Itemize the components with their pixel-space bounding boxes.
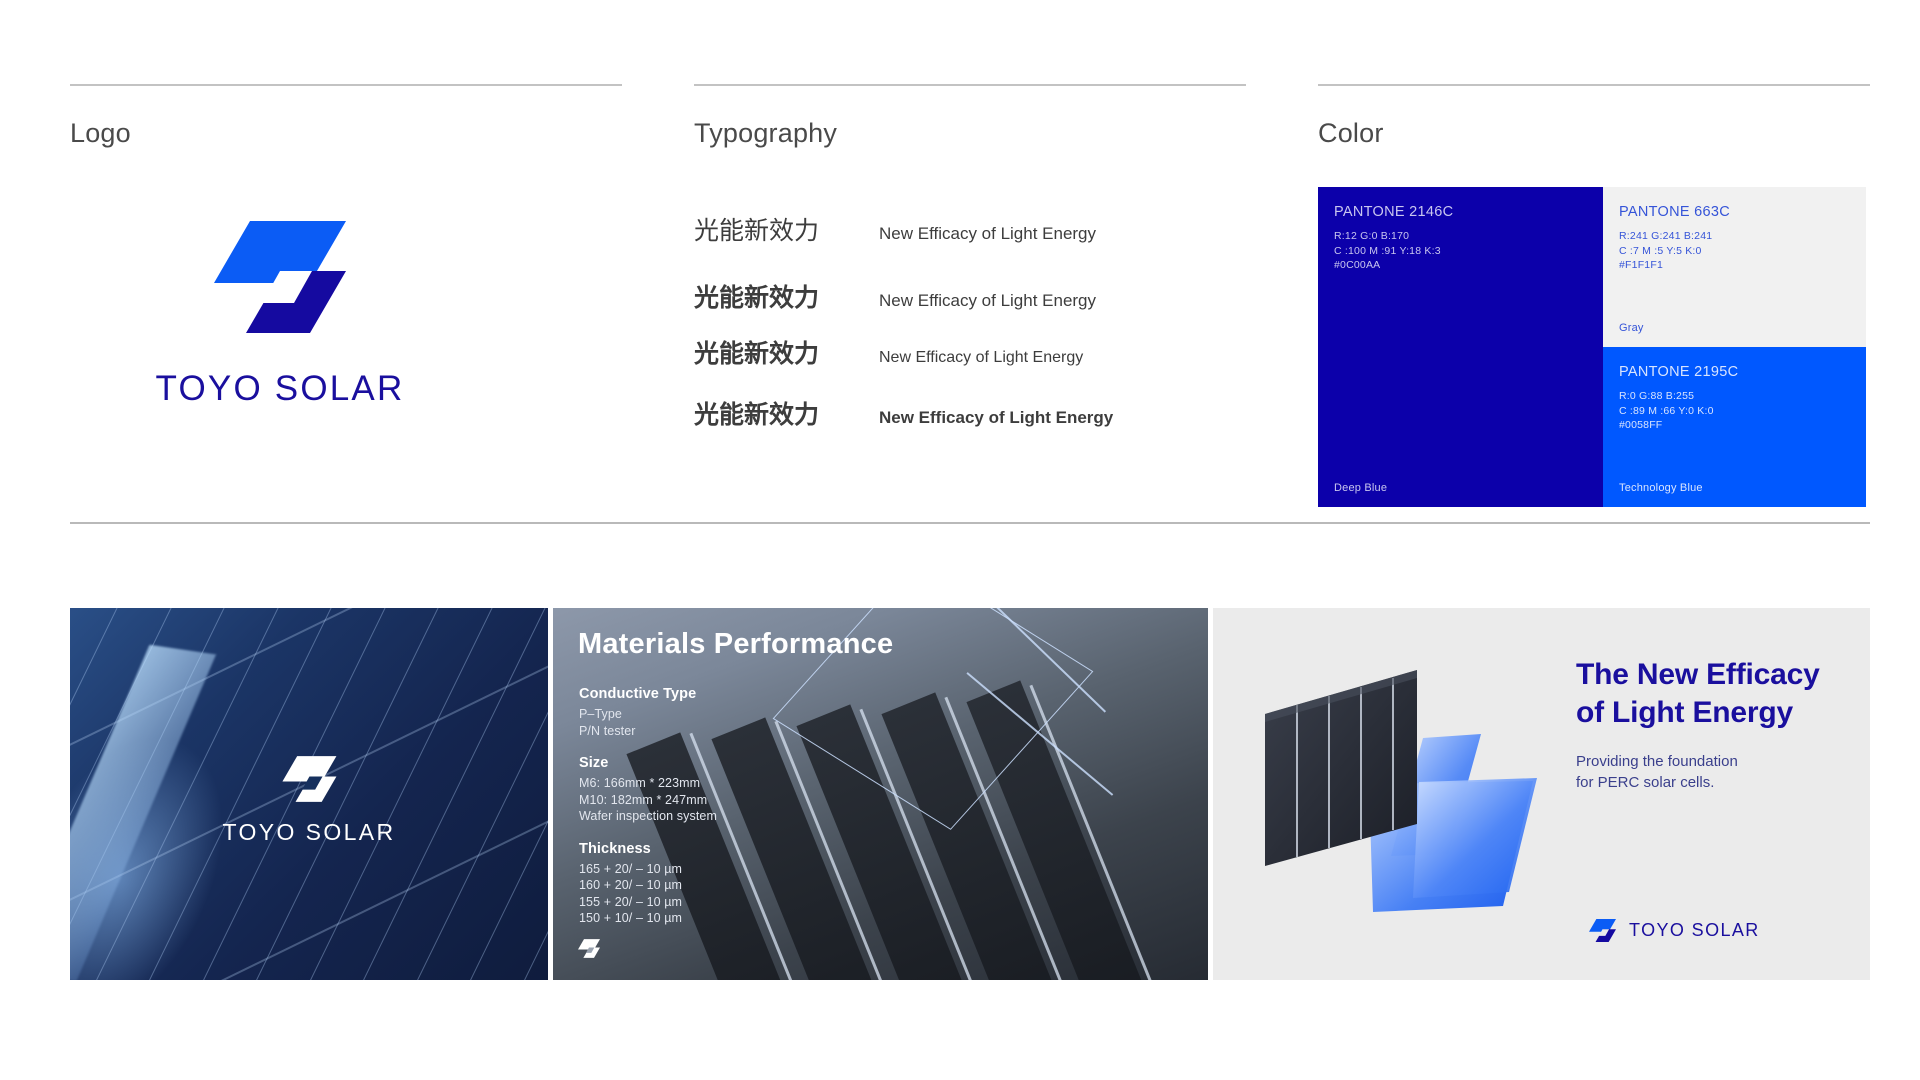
spec-item: 165 + 20/ – 10 µm	[579, 861, 717, 878]
typography-sample-cn: 光能新效力	[694, 334, 879, 370]
logo-column-rule	[70, 84, 622, 86]
color-column: Color PANTONE 2146C R:12 G:0 B:170 C :10…	[1318, 84, 1870, 507]
spec-row: Logo TOYO SOLAR Typography 光能新效力	[0, 0, 1920, 520]
swatch-pantone-name: PANTONE 663C	[1619, 204, 1850, 220]
toyo-solar-mark-white-small-icon	[578, 939, 600, 958]
spec-item: 155 + 20/ – 10 µm	[579, 894, 717, 911]
panel-product-key-visual: The New Efficacy of Light Energy Providi…	[1213, 608, 1870, 980]
logo-section-title: Logo	[70, 118, 622, 149]
spec-group-conductive-type: Conductive Type P–Type P/N tester	[579, 686, 717, 739]
toyo-solar-mark-blue-icon	[1589, 919, 1616, 942]
section-divider	[70, 522, 1870, 524]
color-swatch-technology-blue: PANTONE 2195C R:0 G:88 B:255 C :89 M :66…	[1603, 347, 1866, 507]
spec-item: 150 + 10/ – 10 µm	[579, 910, 717, 927]
right-panel-wordmark: TOYO SOLAR	[1629, 920, 1760, 941]
swatch-label: Deep Blue	[1334, 482, 1387, 494]
swatch-rgb: R:0 G:88 B:255	[1619, 389, 1850, 404]
application-panels: TOYO SOLAR Materials Performance	[70, 608, 1870, 980]
panel-materials-performance: Materials Performance Conductive Type P–…	[553, 608, 1208, 980]
typography-section-title: Typography	[694, 118, 1246, 149]
right-panel-title: The New Efficacy of Light Energy	[1576, 656, 1846, 732]
swatch-cmyk: C :7 M :5 Y:5 K:0	[1619, 244, 1850, 259]
typography-sample-en: New Efficacy of Light Energy	[879, 291, 1096, 311]
typography-sample-row: 光能新效力 New Efficacy of Light Energy	[694, 211, 1246, 247]
spec-group-size: Size M6: 166mm * 223mm M10: 182mm * 247m…	[579, 755, 717, 825]
color-swatch-grid: PANTONE 2146C R:12 G:0 B:170 C :100 M :9…	[1318, 187, 1866, 507]
swatch-hex: #0058FF	[1619, 418, 1850, 433]
typography-samples: 光能新效力 New Efficacy of Light Energy 光能新效力…	[694, 211, 1246, 431]
right-panel-logo-lockup: TOYO SOLAR	[1576, 919, 1760, 942]
right-panel-sub-line2: for PERC solar cells.	[1576, 772, 1846, 793]
color-swatch-deep-blue: PANTONE 2146C R:12 G:0 B:170 C :100 M :9…	[1318, 187, 1603, 507]
swatch-pantone-name: PANTONE 2146C	[1334, 204, 1587, 220]
typography-sample-cn: 光能新效力	[694, 395, 879, 431]
toyo-solar-parallelogram-mark-icon	[214, 221, 346, 333]
solar-cell-wafer-illustration-icon	[1241, 656, 1571, 946]
panel-wordmark: TOYO SOLAR	[222, 819, 395, 846]
panel-solar-array: TOYO SOLAR	[70, 608, 548, 980]
typography-sample-row: 光能新效力 New Efficacy of Light Energy	[694, 395, 1246, 431]
color-swatch-gray: PANTONE 663C R:241 G:241 B:241 C :7 M :5…	[1603, 187, 1866, 347]
right-panel-copy: The New Efficacy of Light Energy Providi…	[1576, 656, 1846, 793]
typography-sample-cn: 光能新效力	[694, 211, 879, 247]
typography-column-rule	[694, 84, 1246, 86]
toyo-solar-mark-white-icon	[282, 756, 336, 802]
swatch-rgb: R:12 G:0 B:170	[1334, 229, 1587, 244]
right-panel-sub-line1: Providing the foundation	[1576, 751, 1846, 772]
swatch-label: Gray	[1619, 322, 1644, 334]
spec-heading: Thickness	[579, 841, 717, 857]
spec-item: 160 + 20/ – 10 µm	[579, 877, 717, 894]
logo-lockup: TOYO SOLAR	[70, 221, 490, 409]
spec-group-thickness: Thickness 165 + 20/ – 10 µm 160 + 20/ – …	[579, 841, 717, 927]
swatch-pantone-name: PANTONE 2195C	[1619, 364, 1850, 380]
panel-logo-lockup: TOYO SOLAR	[222, 756, 395, 846]
swatch-hex: #F1F1F1	[1619, 258, 1850, 273]
right-panel-title-line2: of Light Energy	[1576, 694, 1846, 732]
spec-heading: Conductive Type	[579, 686, 717, 702]
typography-column: Typography 光能新效力 New Efficacy of Light E…	[694, 84, 1246, 457]
spec-item: Wafer inspection system	[579, 808, 717, 825]
typography-sample-cn: 光能新效力	[694, 278, 879, 314]
logo-wordmark: TOYO SOLAR	[156, 369, 405, 409]
spec-heading: Size	[579, 755, 717, 771]
typography-sample-en: New Efficacy of Light Energy	[879, 224, 1096, 244]
materials-performance-title: Materials Performance	[578, 628, 893, 661]
spec-item: M6: 166mm * 223mm	[579, 775, 717, 792]
typography-sample-en: New Efficacy of Light Energy	[879, 408, 1113, 428]
brand-guideline-page: Logo TOYO SOLAR Typography 光能新效力	[0, 0, 1920, 1080]
swatch-rgb: R:241 G:241 B:241	[1619, 229, 1850, 244]
materials-spec-groups: Conductive Type P–Type P/N tester Size M…	[579, 686, 717, 943]
swatch-label: Technology Blue	[1619, 482, 1703, 494]
right-panel-subtitle: Providing the foundation for PERC solar …	[1576, 751, 1846, 793]
swatch-hex: #0C00AA	[1334, 258, 1587, 273]
color-column-rule	[1318, 84, 1870, 86]
right-panel-title-line1: The New Efficacy	[1576, 656, 1846, 694]
color-section-title: Color	[1318, 118, 1870, 149]
typography-sample-row: 光能新效力 New Efficacy of Light Energy	[694, 334, 1246, 370]
logo-column: Logo TOYO SOLAR	[70, 84, 622, 409]
spec-item: P–Type	[579, 706, 717, 723]
typography-sample-row: 光能新效力 New Efficacy of Light Energy	[694, 278, 1246, 314]
swatch-cmyk: C :89 M :66 Y:0 K:0	[1619, 404, 1850, 419]
spec-item: M10: 182mm * 247mm	[579, 792, 717, 809]
spec-item: P/N tester	[579, 723, 717, 740]
swatch-cmyk: C :100 M :91 Y:18 K:3	[1334, 244, 1587, 259]
typography-sample-en: New Efficacy of Light Energy	[879, 349, 1083, 367]
